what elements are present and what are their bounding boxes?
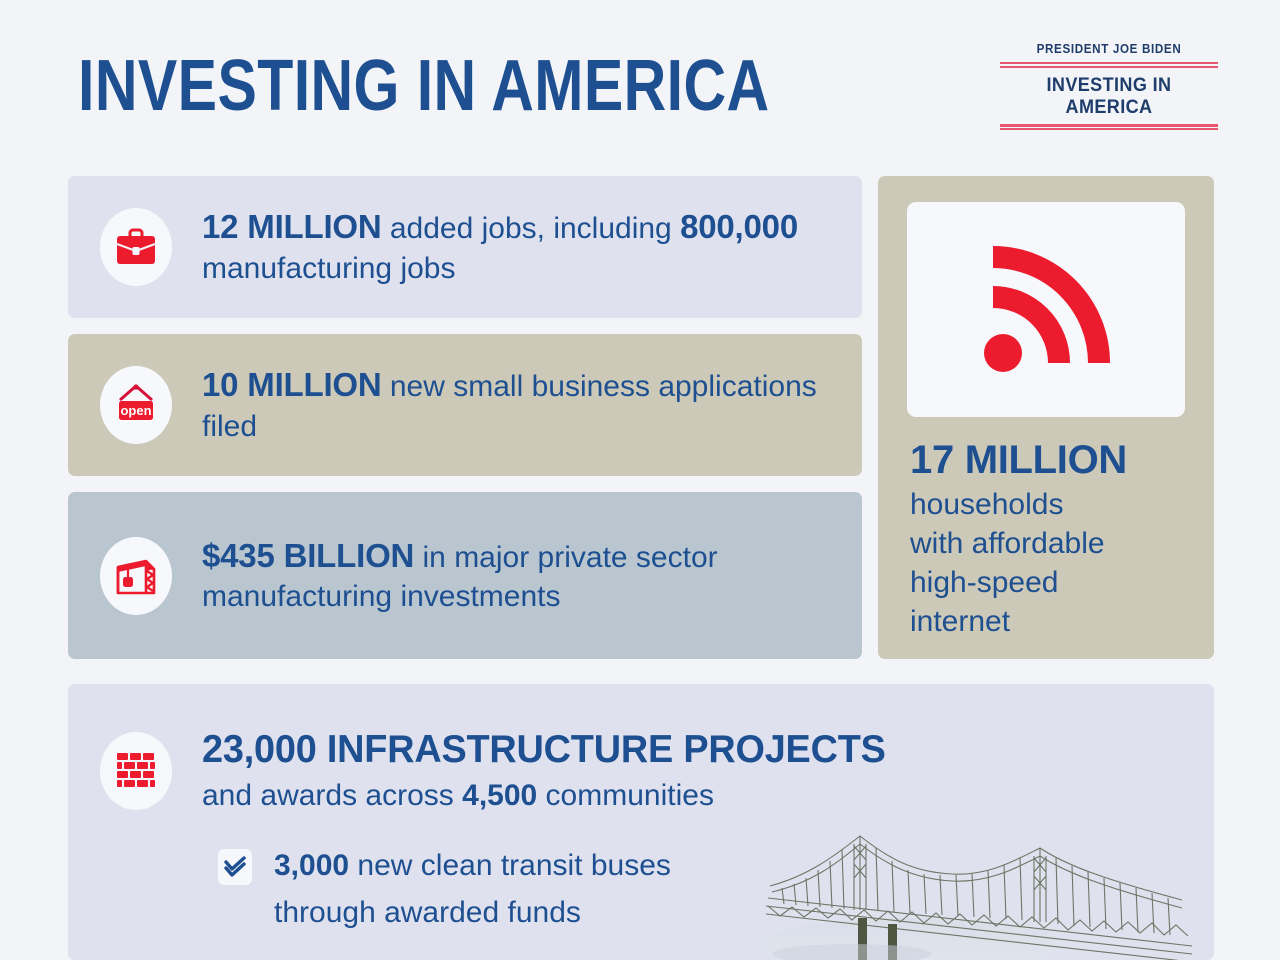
logo-wordmark-line2: AMERICA xyxy=(1005,97,1212,119)
stat-value-infrastructure: 23,000 INFRASTRUCTURE PROJECTS xyxy=(202,730,886,771)
internet-desc-line-1: households xyxy=(910,485,1214,524)
investing-in-america-logo: PRESIDENT JOE BIDEN INVESTING IN AMERICA xyxy=(1000,42,1218,130)
infrastructure-header-row: 23,000 INFRASTRUCTURE PROJECTS and award… xyxy=(68,684,1214,815)
icon-bubble-jobs xyxy=(100,208,172,286)
wifi-icon-box xyxy=(907,202,1185,417)
internet-desc-line-2: with affordable xyxy=(910,524,1214,563)
page-title: INVESTING IN AMERICA xyxy=(78,52,770,120)
stat-card-jobs-text: 12 MILLION added jobs, including 800,000… xyxy=(202,206,862,288)
internet-desc-line-4: internet xyxy=(910,602,1214,641)
open-sign-icon: open xyxy=(112,382,160,428)
infrastructure-copy: 23,000 INFRASTRUCTURE PROJECTS and award… xyxy=(202,730,907,815)
stat-card-investment: $435 BILLION in major private sector man… xyxy=(68,492,862,659)
stat-card-small-business: open 10 MILLION new small business appli… xyxy=(68,334,862,476)
page-title-block: INVESTING IN AMERICA xyxy=(78,52,921,120)
infrastructure-subtext: and awards across 4,500 communities xyxy=(202,776,907,816)
infrastructure-bullet-line2: through awarded funds xyxy=(274,896,581,929)
infrastructure-bullet-text: 3,000 new clean transit buses through aw… xyxy=(274,843,671,937)
wifi-signal-icon xyxy=(971,235,1121,385)
infrastructure-sub-before: and awards across xyxy=(202,779,462,812)
brick-wall-icon xyxy=(115,750,157,792)
logo-wordmark-line1: INVESTING IN xyxy=(1005,75,1212,97)
factory-crane-icon xyxy=(112,553,160,599)
stat-value-internet: 17 MILLION xyxy=(910,439,1214,481)
stat-card-investment-text: $435 BILLION in major private sector man… xyxy=(202,535,862,617)
stat-value-jobs: 12 MILLION xyxy=(202,208,382,245)
infrastructure-bullet: 3,000 new clean transit buses through aw… xyxy=(218,843,1214,937)
infographic-page: INVESTING IN AMERICA PRESIDENT JOE BIDEN… xyxy=(0,0,1280,960)
stat-value-manufacturing-jobs: 800,000 xyxy=(680,208,798,245)
stat-value-communities: 4,500 xyxy=(462,779,537,812)
internet-text-block: 17 MILLION households with affordable hi… xyxy=(910,439,1214,641)
stat-panel-internet: 17 MILLION households with affordable hi… xyxy=(878,176,1214,659)
infrastructure-bullet-line1: new clean transit buses xyxy=(349,849,671,882)
icon-bubble-small-business: open xyxy=(100,366,172,444)
stat-value-transit-buses: 3,000 xyxy=(274,849,349,882)
stat-value-small-business: 10 MILLION xyxy=(202,366,382,403)
double-check-icon xyxy=(224,856,246,878)
stat-card-jobs: 12 MILLION added jobs, including 800,000… xyxy=(68,176,862,318)
open-sign-label: open xyxy=(120,403,151,418)
icon-bubble-investment xyxy=(100,537,172,615)
double-check-icon-box xyxy=(218,849,252,885)
icon-bubble-infrastructure xyxy=(100,732,172,810)
infrastructure-sub-after: communities xyxy=(537,779,714,812)
internet-desc-line-3: high-speed xyxy=(910,563,1214,602)
stat-desc-manufacturing-jobs: manufacturing jobs xyxy=(202,252,455,285)
logo-president-label: PRESIDENT JOE BIDEN xyxy=(1008,42,1211,56)
stat-panel-infrastructure: 23,000 INFRASTRUCTURE PROJECTS and award… xyxy=(68,684,1214,960)
stat-value-investment: $435 BILLION xyxy=(202,537,414,574)
briefcase-icon xyxy=(113,226,159,268)
internet-desc: households with affordable high-speed in… xyxy=(910,485,1214,641)
logo-rule-bottom xyxy=(1000,124,1218,130)
stat-card-small-business-text: 10 MILLION new small business applicatio… xyxy=(202,364,862,446)
logo-wordmark: INVESTING IN AMERICA xyxy=(1005,68,1212,124)
stat-desc-jobs: added jobs, including xyxy=(382,212,672,245)
